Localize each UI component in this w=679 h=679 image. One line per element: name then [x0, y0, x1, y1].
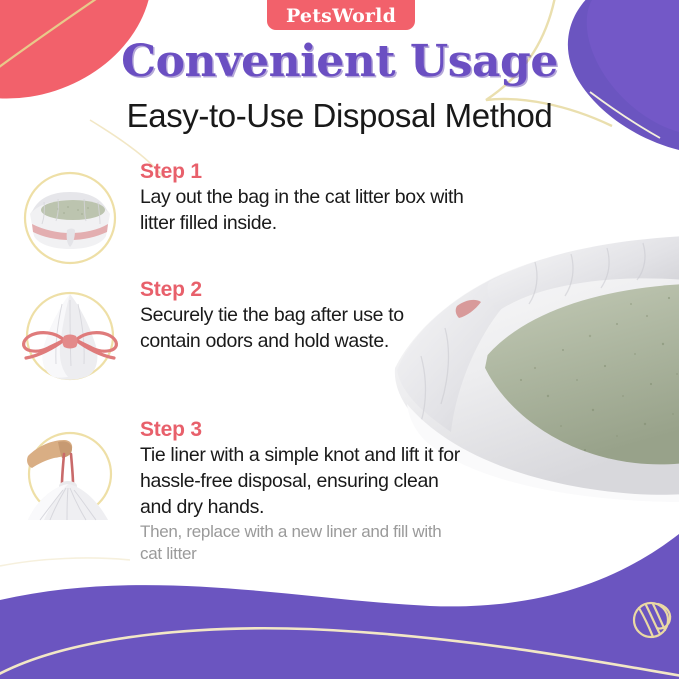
steps-list: Step 1 Lay out the bag in the cat litter…: [0, 160, 470, 568]
brand-badge: PetsWorld: [267, 0, 415, 30]
infographic-poster: PetsWorld Convenient Usage Easy-to-Use D…: [0, 0, 679, 679]
step-2-label: Step 2: [140, 278, 464, 302]
brand-name: PetsWorld: [286, 7, 396, 26]
step-item: Step 1 Lay out the bag in the cat litter…: [0, 160, 470, 278]
step-2-icon-wrap: [0, 278, 140, 388]
page-title: Convenient Usage: [0, 40, 679, 84]
step-3-note: Then, replace with a new liner and fill …: [140, 521, 464, 565]
step-1-label: Step 1: [140, 160, 464, 184]
step-1-body: Step 1 Lay out the bag in the cat litter…: [140, 160, 470, 237]
step-1-icon-wrap: [0, 160, 140, 270]
step-3-icon-wrap: [0, 418, 140, 528]
step-1-icon-circle: [18, 166, 122, 270]
step-3-text: Tie liner with a simple knot and lift it…: [140, 443, 464, 520]
step-2-icon-circle: [18, 284, 122, 388]
tied-bag-with-ribbon-icon: [18, 284, 122, 388]
step-3-icon-circle: [18, 424, 122, 528]
step-item: Step 3 Tie liner with a simple knot and …: [0, 418, 470, 568]
hand-lifting-bag-icon: [18, 424, 122, 528]
page-subtitle: Easy-to-Use Disposal Method: [0, 97, 679, 135]
step-2-text: Securely tie the bag after use to contai…: [140, 303, 464, 354]
step-3-body: Step 3 Tie liner with a simple knot and …: [140, 418, 470, 566]
yarn-ball-icon: [634, 603, 670, 637]
litter-box-with-liner-icon: [18, 166, 122, 270]
step-1-text: Lay out the bag in the cat litter box wi…: [140, 185, 464, 236]
step-item: Step 2 Securely tie the bag after use to…: [0, 278, 470, 418]
gold-arc-bottom: [0, 628, 679, 679]
step-3-label: Step 3: [140, 418, 464, 442]
step-2-body: Step 2 Securely tie the bag after use to…: [140, 278, 470, 355]
